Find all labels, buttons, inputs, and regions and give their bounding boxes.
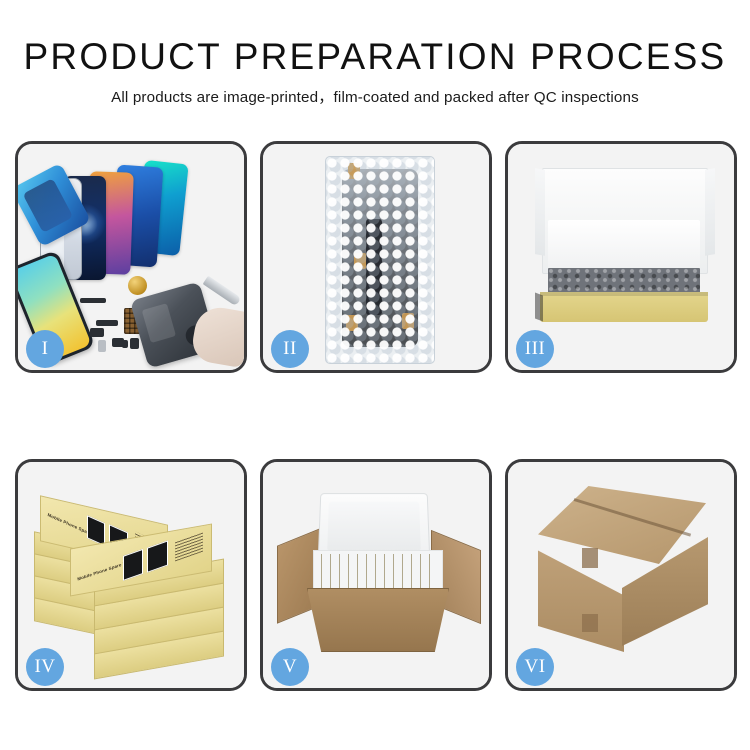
open-kraft-box-icon: [534, 168, 714, 334]
page-subtitle: All products are image-printed，film-coat…: [0, 87, 750, 109]
step-badge-4: IV: [26, 648, 64, 686]
carton-top-face: [538, 486, 706, 564]
white-foam-pad: [548, 220, 700, 270]
sealed-carton-icon: [530, 486, 720, 664]
box-base-yellow: [540, 292, 708, 322]
step-badge-3: III: [516, 330, 554, 368]
carton-body: [307, 588, 449, 652]
process-step-4: Mobile Phone Spare Parts Mobile Phone Sp…: [15, 459, 247, 691]
component-icon: [130, 338, 139, 349]
component-icon: [122, 340, 128, 348]
box-spec-lines: [175, 532, 203, 562]
step-badge-2: II: [271, 330, 309, 368]
component-icon: [98, 340, 106, 352]
bubble-highlights: [326, 157, 434, 363]
page-title: PRODUCT PREPARATION PROCESS: [0, 34, 750, 80]
process-step-6: VI: [505, 459, 737, 691]
coil-component-icon: [128, 276, 147, 295]
carton-tape: [582, 614, 598, 632]
grey-foam-insert: [548, 268, 700, 294]
box-window: [123, 549, 143, 581]
process-step-1: I: [15, 141, 247, 373]
component-icon: [80, 298, 106, 303]
header: PRODUCT PREPARATION PROCESS All products…: [0, 34, 750, 109]
open-shipping-carton-icon: [277, 488, 481, 666]
tweezers-icon: [203, 276, 242, 307]
component-icon: [90, 328, 104, 337]
process-step-2: II: [260, 141, 492, 373]
box-window: [87, 515, 105, 546]
stacked-retail-boxes-icon: Mobile Phone Spare Parts Mobile Phone Sp…: [34, 492, 234, 668]
step-badge-6: VI: [516, 648, 554, 686]
product-preparation-infographic: PRODUCT PREPARATION PROCESS All products…: [0, 0, 750, 750]
process-step-3: III: [505, 141, 737, 373]
process-step-5: V: [260, 459, 492, 691]
bubble-wrap-bag-icon: [325, 156, 435, 364]
step-badge-1: I: [26, 330, 64, 368]
process-step-grid: I II: [15, 141, 737, 691]
carton-tape: [582, 548, 598, 568]
component-icon: [96, 320, 118, 326]
step-badge-5: V: [271, 648, 309, 686]
packed-yellow-boxes: [321, 554, 433, 590]
box-window: [147, 540, 168, 572]
